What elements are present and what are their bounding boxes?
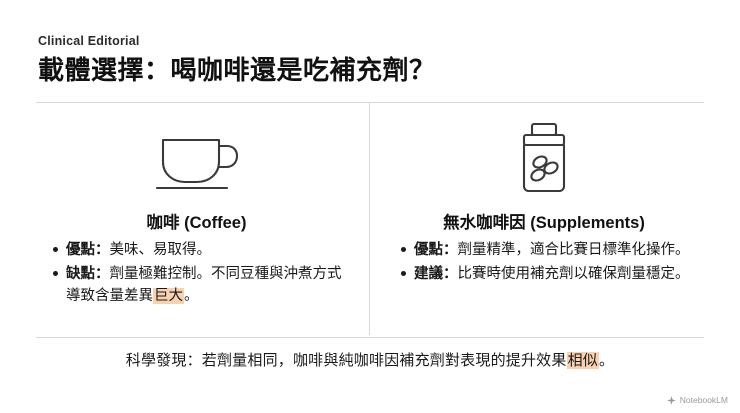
list-item: 缺點：劑量極難控制。不同豆種與沖煮方式導致含量差異巨大。 (66, 263, 345, 307)
column-heading-coffee: 咖啡 (Coffee) (44, 209, 349, 233)
list-item: 優點：美味、易取得。 (66, 239, 345, 261)
brand-watermark: NotebookLM (667, 395, 728, 405)
column-coffee: 咖啡 (Coffee) 優點：美味、易取得。 缺點：劑量極難控制。不同豆種與沖煮… (36, 103, 370, 335)
notebooklm-icon (667, 396, 676, 405)
bullet-list-coffee: 優點：美味、易取得。 缺點：劑量極難控制。不同豆種與沖煮方式導致含量差異巨大。 (44, 239, 349, 307)
brand-name: NotebookLM (680, 395, 728, 405)
bullet-label: 缺點： (66, 266, 110, 282)
comparison-columns: 咖啡 (Coffee) 優點：美味、易取得。 缺點：劑量極難控制。不同豆種與沖煮… (36, 103, 704, 335)
list-item: 優點：劑量精準，適合比賽日標準化操作。 (414, 239, 692, 261)
bullet-tail: 。 (184, 288, 199, 304)
bullet-text: 美味、易取得。 (110, 242, 212, 258)
footer-suffix: 。 (599, 352, 614, 369)
slide: Clinical Editorial 載體選擇：喝咖啡還是吃補充劑？ 咖啡 (C… (0, 0, 740, 413)
footer-highlight: 相似 (567, 352, 599, 369)
bullet-label: 優點： (66, 242, 110, 258)
column-heading-supplements: 無水咖啡因 (Supplements) (392, 209, 696, 233)
bullet-label: 建議： (414, 266, 458, 282)
bullet-list-supplements: 優點：劑量精準，適合比賽日標準化操作。 建議：比賽時使用補充劑以確保劑量穩定。 (392, 239, 696, 285)
footer-prefix: 科學發現：若劑量相同，咖啡與純咖啡因補充劑對表現的提升效果 (126, 352, 567, 369)
bullet-text: 劑量精準，適合比賽日標準化操作。 (458, 242, 690, 258)
coffee-cup-icon (44, 117, 349, 199)
bullet-text: 比賽時使用補充劑以確保劑量穩定。 (458, 266, 690, 282)
bullet-highlight: 巨大 (153, 288, 184, 304)
supplement-bottle-icon (392, 117, 696, 199)
column-supplements: 無水咖啡因 (Supplements) 優點：劑量精準，適合比賽日標準化操作。 … (370, 103, 704, 335)
list-item: 建議：比賽時使用補充劑以確保劑量穩定。 (414, 263, 692, 285)
page-title: 載體選擇：喝咖啡還是吃補充劑？ (38, 55, 704, 86)
eyebrow-label: Clinical Editorial (38, 34, 704, 48)
bullet-label: 優點： (414, 242, 458, 258)
footer-finding: 科學發現：若劑量相同，咖啡與純咖啡因補充劑對表現的提升效果相似。 (36, 338, 704, 370)
